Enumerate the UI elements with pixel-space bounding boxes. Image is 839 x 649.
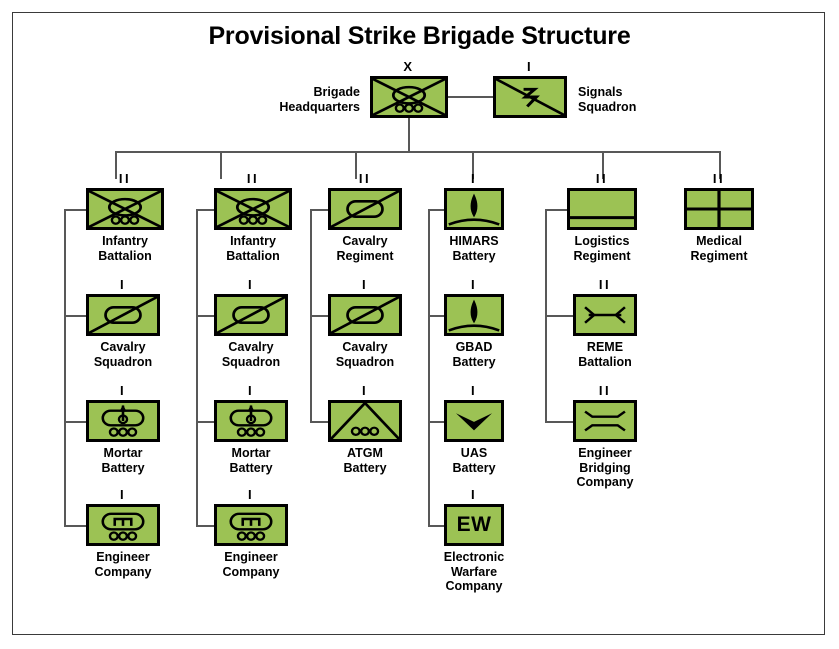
unit-logistics-regiment[interactable]: II Logistics Regiment bbox=[567, 174, 637, 230]
connector-stub-c2-u1 bbox=[196, 209, 214, 211]
unit-brigade-headquarters[interactable]: X bbox=[370, 62, 448, 118]
brigade-hq-label-line1: Brigade bbox=[255, 85, 360, 100]
echelon-marker: I bbox=[86, 386, 160, 396]
unit-label-line1: Medical bbox=[691, 234, 748, 249]
echelon-marker: I bbox=[86, 490, 160, 500]
connector-stub-c5-u1 bbox=[545, 209, 567, 211]
symbol-mechanized-infantry bbox=[86, 188, 164, 230]
connector-spine-column-1 bbox=[64, 209, 66, 525]
connector-stub-c1-u2 bbox=[64, 315, 86, 317]
unit-uas-battery[interactable]: I UAS Battery bbox=[444, 386, 504, 442]
unit-reme-battalion[interactable]: II REME Battalion bbox=[573, 280, 637, 336]
unit-label-line1: REME bbox=[578, 340, 631, 355]
unit-caption: Mortar Battery bbox=[229, 446, 272, 475]
connector-hq-to-signals bbox=[448, 96, 493, 98]
connector-stub-c3-u2 bbox=[310, 315, 328, 317]
unit-label-line2: Company bbox=[95, 565, 152, 580]
echelon-marker: II bbox=[573, 280, 637, 290]
unit-label-line2: Battery bbox=[452, 355, 495, 370]
unit-label-line3: Company bbox=[444, 579, 504, 594]
connector-stub-c5-u2 bbox=[545, 315, 573, 317]
unit-label-line2: Bridging bbox=[577, 461, 634, 476]
connector-stub-c4-u3 bbox=[428, 421, 444, 423]
signals-label-line1: Signals bbox=[578, 85, 678, 100]
connector-stub-c1-u3 bbox=[64, 421, 86, 423]
symbol-armored-cavalry bbox=[328, 294, 402, 336]
unit-label-line1: Infantry bbox=[98, 234, 151, 249]
unit-signals-squadron[interactable]: I bbox=[493, 62, 567, 118]
unit-caption: Engineer Company bbox=[223, 550, 280, 579]
unit-caption: Logistics Regiment bbox=[574, 234, 631, 263]
unit-label-line2: Battery bbox=[229, 461, 272, 476]
echelon-marker: II bbox=[567, 174, 637, 184]
unit-label-line1: HIMARS bbox=[449, 234, 498, 249]
unit-engineer-company[interactable]: I Engineer Company bbox=[86, 490, 160, 546]
unit-caption: Electronic Warfare Company bbox=[444, 550, 504, 594]
connector-stub-c2-u3 bbox=[196, 421, 214, 423]
unit-caption: ATGM Battery bbox=[343, 446, 386, 475]
connector-stub-c4-u4 bbox=[428, 525, 444, 527]
unit-label-line2: Battery bbox=[101, 461, 144, 476]
symbol-engineer-mechanized bbox=[214, 504, 288, 546]
symbol-supply-bar bbox=[567, 188, 637, 230]
symbol-mortar-mechanized bbox=[214, 400, 288, 442]
unit-label-line2: Battalion bbox=[578, 355, 631, 370]
connector-main-bus bbox=[115, 151, 719, 153]
brigade-hq-label-line2: Headquarters bbox=[255, 100, 360, 115]
symbol-armored-cavalry bbox=[328, 188, 402, 230]
unit-gbad-battery[interactable]: I GBAD Battery bbox=[444, 280, 504, 336]
unit-label-line2: Regiment bbox=[574, 249, 631, 264]
echelon-marker: I bbox=[493, 62, 567, 72]
symbol-maintenance bbox=[573, 294, 637, 336]
unit-cavalry-squadron[interactable]: I Cavalry Squadron bbox=[214, 280, 288, 336]
symbol-electronic-warfare: EW bbox=[444, 504, 504, 546]
unit-label-line1: Cavalry bbox=[336, 340, 394, 355]
echelon-marker: I bbox=[444, 386, 504, 396]
unit-caption: Infantry Battalion bbox=[98, 234, 151, 263]
unit-caption: Engineer Bridging Company bbox=[577, 446, 634, 490]
symbol-mortar-mechanized bbox=[86, 400, 160, 442]
connector-hq-drop bbox=[408, 118, 410, 151]
symbol-antitank-mechanized bbox=[328, 400, 402, 442]
symbol-armored-cavalry bbox=[86, 294, 160, 336]
unit-label-line1: Logistics bbox=[574, 234, 631, 249]
unit-label-line2: Squadron bbox=[336, 355, 394, 370]
unit-label-line3: Company bbox=[577, 475, 634, 490]
unit-label-line1: Electronic bbox=[444, 550, 504, 565]
unit-label-line2: Battalion bbox=[226, 249, 279, 264]
unit-label-line1: GBAD bbox=[452, 340, 495, 355]
brigade-hq-caption: Brigade Headquarters bbox=[255, 85, 360, 114]
connector-stub-c4-u2 bbox=[428, 315, 444, 317]
symbol-missile-rocket bbox=[444, 294, 504, 336]
unit-engineer-bridging-company[interactable]: II Engineer Bridging Company bbox=[573, 386, 637, 442]
diagram-page: Provisional Strike Brigade Structure Bri… bbox=[0, 0, 839, 649]
unit-caption: HIMARS Battery bbox=[449, 234, 498, 263]
unit-cavalry-squadron[interactable]: I Cavalry Squadron bbox=[328, 280, 402, 336]
connector-stub-c2-u4 bbox=[196, 525, 214, 527]
unit-caption: Cavalry Squadron bbox=[222, 340, 280, 369]
symbol-medical-cross bbox=[684, 188, 754, 230]
echelon-marker: I bbox=[214, 386, 288, 396]
unit-engineer-company[interactable]: I Engineer Company bbox=[214, 490, 288, 546]
unit-label-line2: Squadron bbox=[222, 355, 280, 370]
unit-label-line1: Cavalry bbox=[222, 340, 280, 355]
symbol-engineer-mechanized bbox=[86, 504, 160, 546]
signals-squadron-caption: Signals Squadron bbox=[578, 85, 678, 114]
connector-stub-c4-u1 bbox=[428, 209, 444, 211]
connector-stub-c1-u4 bbox=[64, 525, 86, 527]
echelon-marker: II bbox=[328, 174, 402, 184]
unit-caption: Engineer Company bbox=[95, 550, 152, 579]
echelon-marker: II bbox=[214, 174, 292, 184]
unit-caption: REME Battalion bbox=[578, 340, 631, 369]
symbol-mechanized-infantry-hq bbox=[370, 76, 448, 118]
unit-caption: Cavalry Squadron bbox=[336, 340, 394, 369]
echelon-marker: I bbox=[328, 386, 402, 396]
unit-caption: Medical Regiment bbox=[691, 234, 748, 263]
echelon-marker: X bbox=[370, 62, 448, 72]
unit-caption: Infantry Battalion bbox=[226, 234, 279, 263]
unit-mortar-battery[interactable]: I Mortar Battery bbox=[214, 386, 288, 442]
echelon-marker: I bbox=[86, 280, 160, 290]
symbol-signals-lightning bbox=[493, 76, 567, 118]
connector-stub-c5-u3 bbox=[545, 421, 573, 423]
ew-inner-text: EW bbox=[447, 507, 501, 543]
connector-stub-c3-u1 bbox=[310, 209, 328, 211]
unit-label-line1: Engineer bbox=[577, 446, 634, 461]
unit-label-line2: Company bbox=[223, 565, 280, 580]
symbol-armored-cavalry bbox=[214, 294, 288, 336]
echelon-marker: I bbox=[444, 174, 504, 184]
unit-caption: Mortar Battery bbox=[101, 446, 144, 475]
symbol-bridging bbox=[573, 400, 637, 442]
unit-label-line1: Mortar bbox=[101, 446, 144, 461]
unit-electronic-warfare-company[interactable]: I EW Electronic Warfare Company bbox=[444, 490, 504, 546]
connector-stub-c1-u1 bbox=[64, 209, 86, 211]
connector-spine-column-2 bbox=[196, 209, 198, 525]
unit-atgm-battery[interactable]: I ATGM Battery bbox=[328, 386, 402, 442]
echelon-marker: II bbox=[684, 174, 754, 184]
unit-caption: GBAD Battery bbox=[452, 340, 495, 369]
unit-label-line2: Warfare bbox=[444, 565, 504, 580]
unit-label-line1: ATGM bbox=[343, 446, 386, 461]
unit-medical-regiment[interactable]: II Medical Regiment bbox=[684, 174, 754, 230]
unit-caption: Cavalry Squadron bbox=[94, 340, 152, 369]
unit-label-line1: Infantry bbox=[226, 234, 279, 249]
unit-label-line2: Battery bbox=[449, 249, 498, 264]
unit-mortar-battery[interactable]: I Mortar Battery bbox=[86, 386, 160, 442]
echelon-marker: I bbox=[214, 280, 288, 290]
echelon-marker: I bbox=[328, 280, 402, 290]
unit-label-line1: Engineer bbox=[223, 550, 280, 565]
unit-label-line1: Cavalry bbox=[337, 234, 394, 249]
echelon-marker: I bbox=[444, 280, 504, 290]
unit-label-line2: Squadron bbox=[94, 355, 152, 370]
unit-cavalry-squadron[interactable]: I Cavalry Squadron bbox=[86, 280, 160, 336]
signals-label-line2: Squadron bbox=[578, 100, 678, 115]
unit-label-line2: Battery bbox=[343, 461, 386, 476]
unit-label-line1: Engineer bbox=[95, 550, 152, 565]
echelon-marker: II bbox=[573, 386, 637, 396]
echelon-marker: I bbox=[444, 490, 504, 500]
unit-label-line1: Cavalry bbox=[94, 340, 152, 355]
unit-label-line2: Regiment bbox=[691, 249, 748, 264]
symbol-uas-chevron bbox=[444, 400, 504, 442]
symbol-missile-rocket bbox=[444, 188, 504, 230]
unit-caption: UAS Battery bbox=[452, 446, 495, 475]
unit-caption: Cavalry Regiment bbox=[337, 234, 394, 263]
echelon-marker: II bbox=[86, 174, 164, 184]
connector-stub-c3-u3 bbox=[310, 421, 328, 423]
unit-label-line2: Regiment bbox=[337, 249, 394, 264]
page-title: Provisional Strike Brigade Structure bbox=[0, 22, 839, 51]
unit-infantry-battalion[interactable]: II Infantry Battalion bbox=[86, 174, 164, 230]
echelon-marker: I bbox=[214, 490, 288, 500]
symbol-mechanized-infantry bbox=[214, 188, 292, 230]
connector-stub-c2-u2 bbox=[196, 315, 214, 317]
connector-spine-column-4 bbox=[428, 209, 430, 525]
unit-label-line2: Battery bbox=[452, 461, 495, 476]
unit-infantry-battalion[interactable]: II Infantry Battalion bbox=[214, 174, 292, 230]
unit-label-line1: Mortar bbox=[229, 446, 272, 461]
unit-label-line1: UAS bbox=[452, 446, 495, 461]
unit-himars-battery[interactable]: I HIMARS Battery bbox=[444, 174, 504, 230]
unit-cavalry-regiment[interactable]: II Cavalry Regiment bbox=[328, 174, 402, 230]
unit-label-line2: Battalion bbox=[98, 249, 151, 264]
